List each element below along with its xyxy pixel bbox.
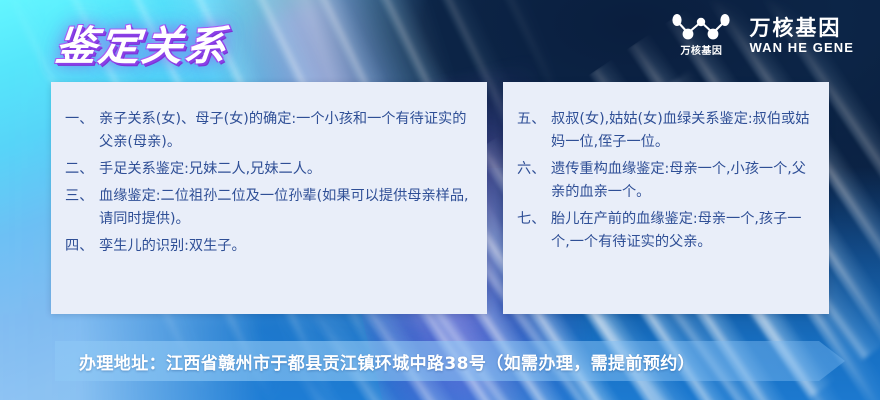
panel-left: 一、 亲子关系(女)、母子(女)的确定:一个小孩和一个有待证实的父亲(母亲)。 … (51, 82, 487, 314)
address-banner: 办理地址：江西省赣州市于都县贡江镇环城中路38号（如需办理，需提前预约） (55, 341, 845, 381)
item-list-right: 五、 叔叔(女),姑姑(女)血绿关系鉴定:叔伯或姑妈一位,侄子一位。 六、 遗传… (517, 108, 813, 254)
list-item-text: 亲子关系(女)、母子(女)的确定:一个小孩和一个有待证实的父亲(母亲)。 (99, 108, 471, 154)
brand-name-en: WAN HE GENE (749, 41, 854, 55)
list-item-marker: 三、 (65, 185, 99, 208)
brand-mark: 万核基因 (669, 14, 733, 57)
list-item: 三、 血缘鉴定:二位祖孙二位及一位孙辈(如果可以提供母亲样品,请同时提供)。 (65, 185, 471, 231)
list-item-marker: 一、 (65, 108, 99, 131)
page-title: 鉴定关系 (53, 12, 231, 72)
panel-right: 五、 叔叔(女),姑姑(女)血绿关系鉴定:叔伯或姑妈一位,侄子一位。 六、 遗传… (503, 82, 829, 314)
list-item-text: 叔叔(女),姑姑(女)血绿关系鉴定:叔伯或姑妈一位,侄子一位。 (551, 108, 813, 154)
list-item-text: 遗传重构血缘鉴定:母亲一个,小孩一个,父亲的血亲一个。 (551, 158, 813, 204)
list-item-text: 胎儿在产前的血缘鉴定:母亲一个,孩子一个,一个有待证实的父亲。 (551, 208, 813, 254)
list-item-text: 血缘鉴定:二位祖孙二位及一位孙辈(如果可以提供母亲样品,请同时提供)。 (99, 185, 471, 231)
list-item-text: 手足关系鉴定:兄妹二人,兄妹二人。 (99, 158, 471, 181)
list-item-marker: 四、 (65, 235, 99, 258)
poster-header: 鉴定关系 (0, 0, 880, 82)
item-list-left: 一、 亲子关系(女)、母子(女)的确定:一个小孩和一个有待证实的父亲(母亲)。 … (65, 108, 471, 258)
poster-canvas: 鉴定关系 (0, 0, 880, 400)
brand-lockup: 万核基因 万核基因 WAN HE GENE (669, 14, 854, 57)
list-item: 七、 胎儿在产前的血缘鉴定:母亲一个,孩子一个,一个有待证实的父亲。 (517, 208, 813, 254)
address-text: 办理地址：江西省赣州市于都县贡江镇环城中路38号（如需办理，需提前预约） (55, 349, 695, 374)
brand-name-cn: 万核基因 (749, 17, 854, 39)
list-item: 六、 遗传重构血缘鉴定:母亲一个,小孩一个,父亲的血亲一个。 (517, 158, 813, 204)
list-item: 五、 叔叔(女),姑姑(女)血绿关系鉴定:叔伯或姑妈一位,侄子一位。 (517, 108, 813, 154)
list-item-marker: 六、 (517, 158, 551, 181)
list-item-marker: 二、 (65, 158, 99, 181)
brand-mark-label: 万核基因 (680, 47, 722, 57)
content-panels: 一、 亲子关系(女)、母子(女)的确定:一个小孩和一个有待证实的父亲(母亲)。 … (51, 82, 829, 314)
list-item: 四、 孪生儿的识别:双生子。 (65, 235, 471, 258)
list-item-marker: 五、 (517, 108, 551, 131)
list-item: 二、 手足关系鉴定:兄妹二人,兄妹二人。 (65, 158, 471, 181)
list-item-marker: 七、 (517, 208, 551, 231)
list-item: 一、 亲子关系(女)、母子(女)的确定:一个小孩和一个有待证实的父亲(母亲)。 (65, 108, 471, 154)
list-item-text: 孪生儿的识别:双生子。 (99, 235, 471, 258)
brand-words: 万核基因 WAN HE GENE (749, 17, 854, 55)
molecule-node-icon (669, 14, 733, 44)
